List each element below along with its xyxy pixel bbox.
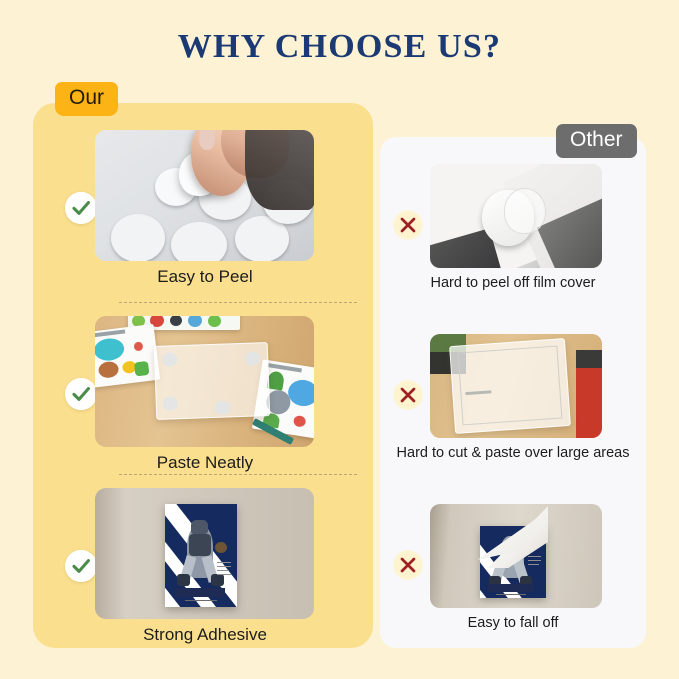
other-item-2-caption: Hard to cut & paste over large areas [384, 444, 642, 463]
our-item-2-caption: Paste Neatly [73, 453, 337, 473]
other-item-1: Hard to peel off film cover [380, 164, 646, 314]
other-item-2-image [430, 334, 602, 438]
our-item-2: Paste Neatly [33, 316, 373, 488]
check-icon [65, 550, 97, 582]
other-item-3: Easy to fall off [380, 504, 646, 654]
our-item-1: Easy to Peel [33, 130, 373, 302]
badge-other: Other [556, 124, 637, 158]
our-item-3: Strong Adhesive [33, 488, 373, 660]
cross-icon [393, 380, 423, 410]
our-item-2-image [95, 316, 314, 447]
cross-icon [393, 550, 423, 580]
our-item-3-caption: Strong Adhesive [73, 625, 337, 645]
other-column-panel: Hard to peel off film cover Hard to cut … [380, 137, 646, 648]
divider-1 [119, 302, 357, 303]
badge-our: Our [55, 82, 118, 116]
page-title: WHY CHOOSE US? [0, 28, 679, 66]
our-item-1-image [95, 130, 314, 261]
other-item-2: Hard to cut & paste over large areas [380, 334, 646, 502]
cross-icon [393, 210, 423, 240]
our-item-3-image [95, 488, 314, 619]
check-icon [65, 378, 97, 410]
other-item-1-image [430, 164, 602, 268]
divider-2 [119, 474, 357, 475]
other-item-1-caption: Hard to peel off film cover [384, 274, 642, 293]
check-icon [65, 192, 97, 224]
our-column-panel: Easy to Peel [33, 103, 373, 648]
our-item-1-caption: Easy to Peel [73, 267, 337, 287]
other-item-3-caption: Easy to fall off [384, 614, 642, 633]
other-item-3-image [430, 504, 602, 608]
